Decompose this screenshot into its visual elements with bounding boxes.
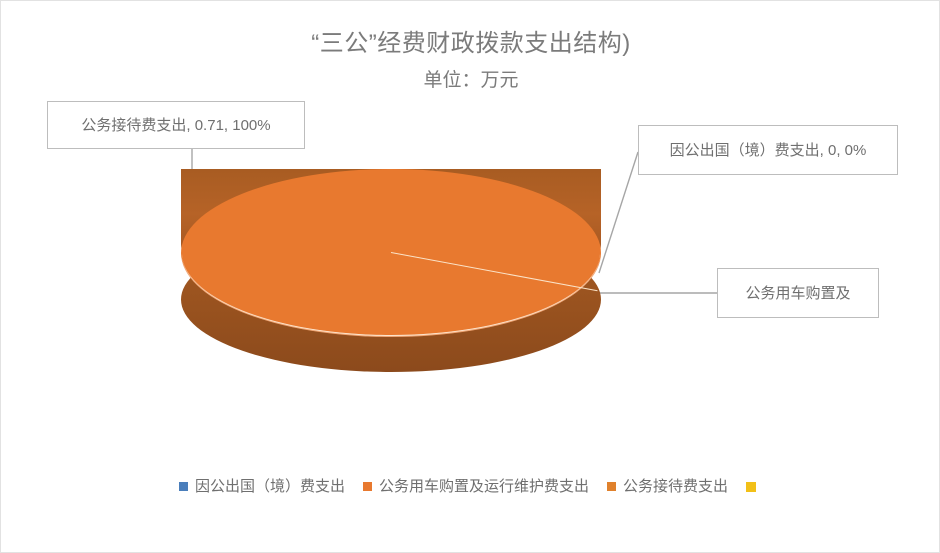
legend-item-label: 公务用车购置及运行维护费支出 bbox=[379, 479, 589, 494]
legend-swatch-icon bbox=[607, 482, 616, 491]
legend-item-extra[interactable] bbox=[746, 482, 763, 492]
data-label-abroad[interactable]: 因公出国（境）费支出, 0, 0% bbox=[638, 125, 898, 175]
data-label-hospitality[interactable]: 公务接待费支出, 0.71, 100% bbox=[47, 101, 305, 149]
chart-subtitle: 单位：万元 bbox=[1, 65, 940, 92]
data-label-vehicle[interactable]: 公务用车购置及 bbox=[717, 268, 879, 318]
leader-line-abroad bbox=[599, 152, 638, 273]
legend-swatch-icon bbox=[746, 482, 756, 492]
legend-swatch-icon bbox=[179, 482, 188, 491]
legend-item-label: 因公出国（境）费支出 bbox=[195, 479, 345, 494]
chart-title: “三公”经费财政拨款支出结构) bbox=[1, 23, 940, 58]
legend-swatch-icon bbox=[363, 482, 372, 491]
legend-item-abroad[interactable]: 因公出国（境）费支出 bbox=[179, 479, 345, 494]
legend-item-label: 公务接待费支出 bbox=[623, 479, 728, 494]
legend-item-vehicle[interactable]: 公务用车购置及运行维护费支出 bbox=[363, 479, 589, 494]
pie-slice-hospitality[interactable] bbox=[181, 169, 601, 337]
legend-item-hospitality[interactable]: 公务接待费支出 bbox=[607, 479, 728, 494]
chart-legend: 因公出国（境）费支出 公务用车购置及运行维护费支出 公务接待费支出 bbox=[1, 479, 940, 494]
pie-chart[interactable] bbox=[181, 169, 601, 384]
chart-container: “三公”经费财政拨款支出结构) 单位：万元 公务接待费支出, 0.71, 100… bbox=[0, 0, 940, 553]
